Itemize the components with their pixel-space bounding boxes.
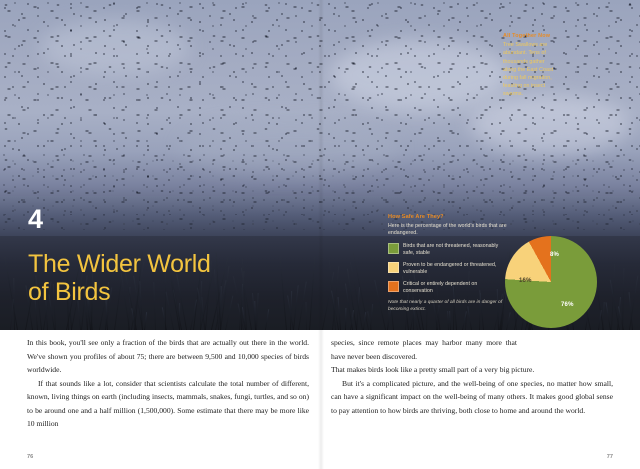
paragraph-wrap-text: species, since remote places may harbor …	[331, 338, 517, 361]
body-text-area: In this book, you'll see only a fraction…	[0, 330, 640, 469]
infographic-panel: How Safe Are They? Here is the percentag…	[388, 214, 508, 314]
callout-title: All Together Now	[503, 33, 559, 39]
legend-label-critical: Critical or entirely dependent on conser…	[403, 281, 508, 296]
cloud-shape	[40, 20, 190, 75]
callout-body: Tree Swallows are abundant. Tens of thou…	[503, 41, 559, 98]
text-column-right: species, since remote places may harbor …	[331, 336, 613, 417]
pie-slice-label-vulnerable: 16%	[519, 278, 532, 284]
paragraph: But it's a complicated picture, and the …	[331, 377, 613, 418]
pie-chart: 76% 16% 8%	[505, 236, 597, 328]
chapter-title-line-1: The Wider World	[28, 250, 278, 278]
legend-label-vulnerable: Proven to be endangered or threatened, v…	[403, 262, 508, 277]
infographic-subtitle: Here is the percentage of the world's bi…	[388, 223, 508, 238]
cloud-shape	[180, 120, 400, 175]
pie-slice-label-safe: 76%	[561, 302, 574, 308]
legend-item: Proven to be endangered or threatened, v…	[388, 262, 508, 277]
paragraph: That makes birds look like a pretty smal…	[331, 363, 613, 377]
photo-callout: All Together Now Tree Swallows are abund…	[503, 33, 559, 99]
legend-item: Critical or entirely dependent on conser…	[388, 281, 508, 296]
chapter-title-line-2: of Birds	[28, 278, 278, 306]
chapter-title: The Wider World of Birds	[28, 250, 278, 306]
legend-swatch-critical	[388, 281, 399, 292]
flock-photograph: 4 The Wider World of Birds All Together …	[0, 0, 640, 330]
text-column-left: In this book, you'll see only a fraction…	[27, 336, 309, 431]
page-number-right: 77	[607, 454, 613, 460]
water-horizon	[0, 196, 640, 238]
paragraph: In this book, you'll see only a fraction…	[27, 336, 309, 377]
legend-swatch-vulnerable	[388, 262, 399, 273]
legend-item: Birds that are not threatened, reasonabl…	[388, 243, 508, 258]
paragraph: If that sounds like a lot, consider that…	[27, 377, 309, 431]
infographic-note: Note that nearly a quarter of all birds …	[388, 300, 508, 314]
infographic-title: How Safe Are They?	[388, 214, 508, 221]
legend-swatch-safe	[388, 243, 399, 254]
pie-slice-label-critical: 8%	[550, 252, 559, 258]
cloud-shape	[330, 40, 510, 110]
paragraph-wrap: species, since remote places may harbor …	[331, 336, 613, 363]
chapter-number: 4	[28, 206, 43, 233]
page-number-left: 76	[27, 454, 33, 460]
legend-label-safe: Birds that are not threatened, reasonabl…	[403, 243, 508, 258]
book-spread: 4 The Wider World of Birds All Together …	[0, 0, 640, 469]
cloud-shape	[470, 95, 630, 155]
